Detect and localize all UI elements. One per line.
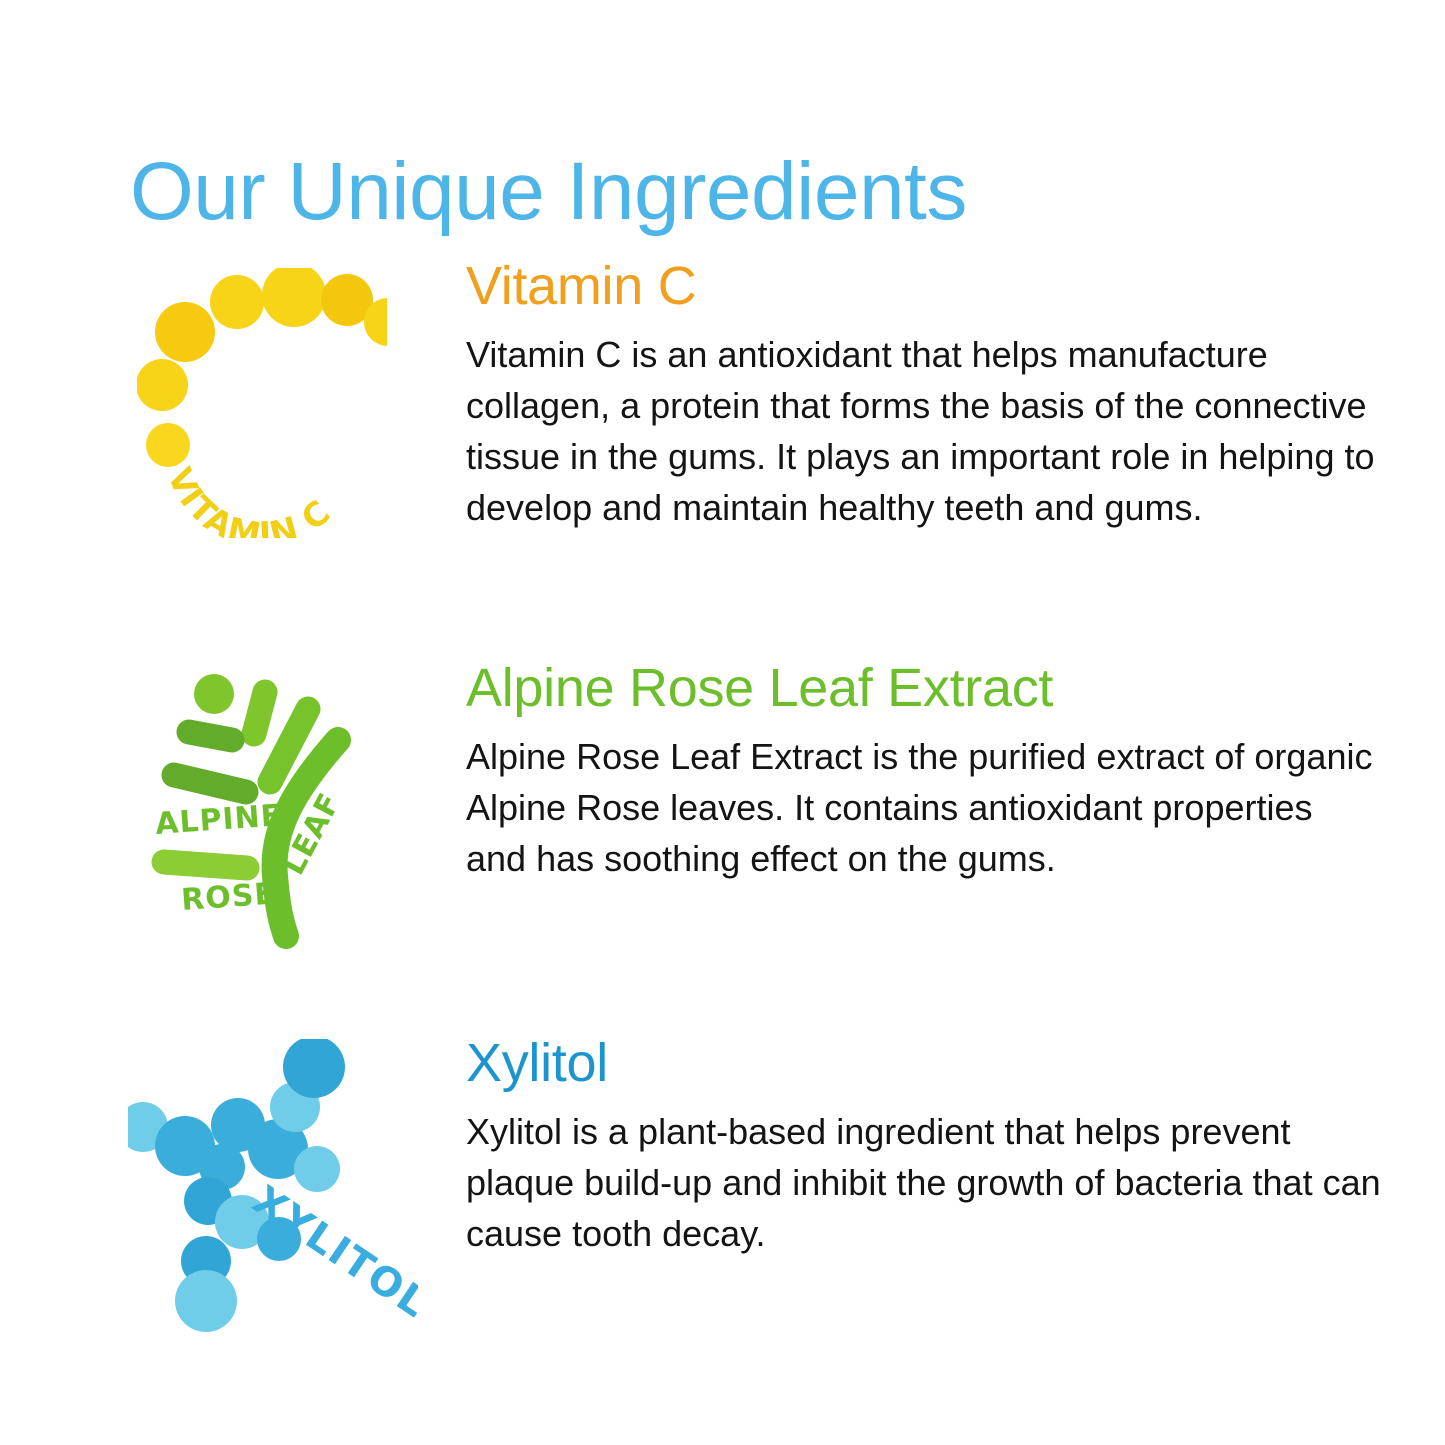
vitamin-c-icon: VITAMIN C — [137, 268, 387, 538]
icon-cell-xylitol: XYLITOL — [0, 1035, 466, 1335]
page-title: Our Unique Ingredients — [130, 151, 967, 233]
ingredient-row-vitamin-c: VITAMIN C Vitamin C Vitamin C is an anti… — [0, 258, 1445, 558]
ingredient-heading-vitamin-c: Vitamin C — [466, 258, 1385, 315]
text-cell-xylitol: Xylitol Xylitol is a plant-based ingredi… — [466, 1035, 1445, 1259]
ingredient-heading-xylitol: Xylitol — [466, 1035, 1385, 1092]
ingredient-body-vitamin-c: Vitamin C is an antioxidant that helps m… — [466, 329, 1381, 533]
ingredient-row-alpine-rose: ALPINE ROSE LEAF Alpine Rose Leaf Extrac… — [0, 660, 1445, 960]
ingredient-row-xylitol: XYLITOL Xylitol Xylitol is a plant-based… — [0, 1035, 1445, 1335]
icon-cell-alpine-rose: ALPINE ROSE LEAF — [0, 660, 466, 960]
ingredients-page: Our Unique Ingredients — [0, 0, 1445, 1445]
svg-text:ROSE: ROSE — [180, 876, 277, 918]
icon-cell-vitamin-c: VITAMIN C — [0, 258, 466, 558]
svg-text:ALPINE: ALPINE — [154, 798, 283, 842]
text-cell-alpine-rose: Alpine Rose Leaf Extract Alpine Rose Lea… — [466, 660, 1445, 884]
ingredient-body-alpine-rose: Alpine Rose Leaf Extract is the purified… — [466, 731, 1381, 884]
svg-text:VITAMIN C: VITAMIN C — [160, 462, 338, 538]
text-cell-vitamin-c: Vitamin C Vitamin C is an antioxidant th… — [466, 258, 1445, 533]
ingredient-body-xylitol: Xylitol is a plant-based ingredient that… — [466, 1106, 1381, 1259]
xylitol-icon: XYLITOL — [128, 1039, 418, 1339]
ingredient-heading-alpine-rose: Alpine Rose Leaf Extract — [466, 660, 1385, 717]
alpine-rose-leaf-icon: ALPINE ROSE LEAF — [142, 662, 392, 952]
